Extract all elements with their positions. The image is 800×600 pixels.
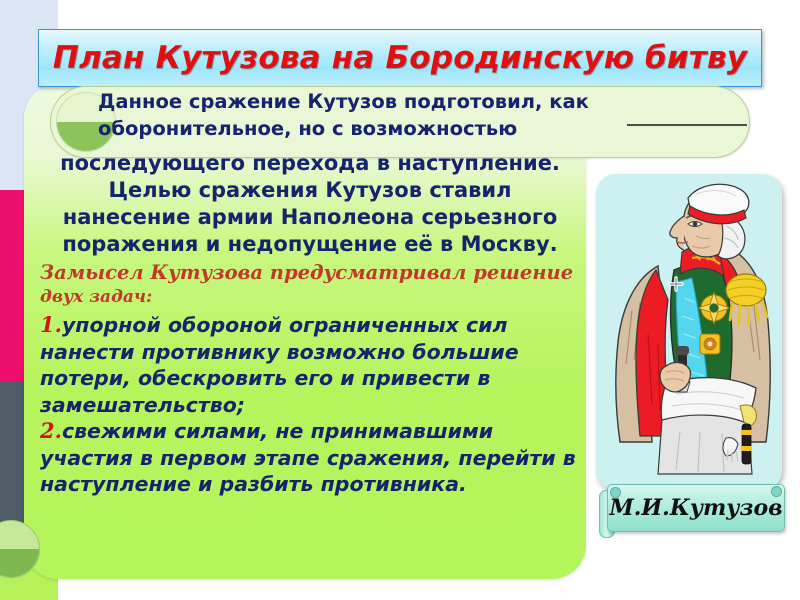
callout-line-1: Данное сражение Кутузов подготовил, как xyxy=(98,90,589,113)
paragraph-line-3: нанесение армии Наполеона серьезного xyxy=(40,204,580,231)
title-banner: План Кутузова на Бородинскую битву xyxy=(38,29,762,87)
slide-canvas: План Кутузова на Бородинскую битву Данно… xyxy=(0,0,800,600)
sub-heading-line-1: Замысел Кутузова предусматривал решение xyxy=(40,261,573,284)
kutuzov-portrait-illustration xyxy=(596,174,782,490)
paragraph-line-1: последующего перехода в наступление. xyxy=(40,150,580,177)
list-item: 2.свежими силами, не принимавшими участи… xyxy=(40,418,580,498)
task-list: 1.упорной обороной ограниченных сил нане… xyxy=(40,312,580,498)
list-item: 1.упорной обороной ограниченных сил нане… xyxy=(40,312,580,418)
portrait-card xyxy=(596,174,782,490)
body-block: последующего перехода в наступление. Цел… xyxy=(34,150,586,498)
callout-text: Данное сражение Кутузов подготовил, как … xyxy=(98,88,618,142)
portrait-caption-scroll: М.И.Кутузов xyxy=(593,482,789,536)
sub-heading-line-2: двух задач: xyxy=(40,285,580,310)
page-title: План Кутузова на Бородинскую битву xyxy=(53,40,747,76)
paragraph-line-4: поражения и недопущение её в Москву. xyxy=(40,231,580,258)
callout-line-2: оборонительное, но с возможностью xyxy=(98,117,517,140)
scroll-body: М.И.Кутузов xyxy=(607,484,785,532)
list-item-text: свежими силами, не принимавшими участия … xyxy=(40,419,576,496)
intro-paragraph: последующего перехода в наступление. Цел… xyxy=(40,150,580,258)
paragraph-line-2: Целью сражения Кутузов ставил xyxy=(40,177,580,204)
leader-line xyxy=(627,124,747,126)
portrait-caption-text: М.И.Кутузов xyxy=(609,495,782,521)
list-item-number: 2. xyxy=(40,418,62,443)
scroll-pin-left xyxy=(610,487,621,498)
list-item-number: 1. xyxy=(40,312,62,337)
scroll-pin-right xyxy=(771,486,782,497)
list-item-text: упорной обороной ограниченных сил нанест… xyxy=(40,313,519,417)
sub-heading: Замысел Кутузова предусматривал решение … xyxy=(40,260,580,310)
